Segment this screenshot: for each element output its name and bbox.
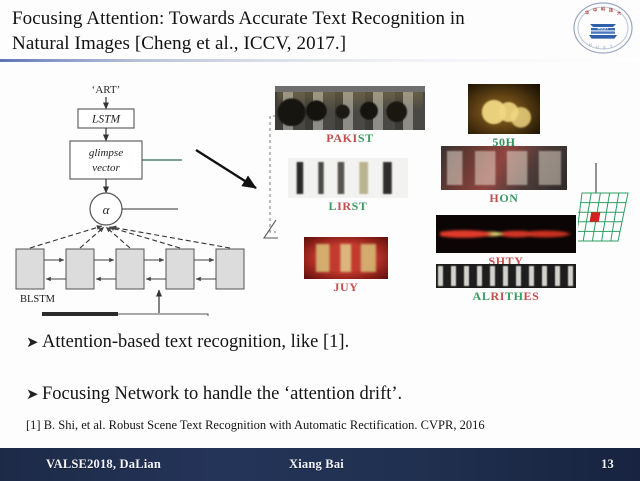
sample-pakist[interactable]: PAKIST [275,86,425,145]
diagram-glimpse-label-2: vector [92,162,120,174]
sample-pakist-caption: PAKIST [275,131,425,145]
footer-page-number: 13 [601,457,614,472]
title-line-1: Focusing Attention: Towards Accurate Tex… [12,6,552,31]
sample-lirst-image [288,158,408,198]
slide-canvas: Focusing Attention: Towards Accurate Tex… [0,0,640,481]
sample-hon-caption: HON [441,191,567,205]
sample-50h[interactable]: 50H [468,84,540,149]
sample-juy[interactable]: JUY [304,237,388,294]
title-line-2: Natural Images [Cheng et al., ICCV, 2017… [12,31,552,56]
attention-map-grid [578,163,636,249]
bullet-text-2: Focusing Network to handle the ‘attentio… [42,382,402,406]
diagram-alpha-label: α [103,202,111,217]
bullet-item-1: ➤ Attention-based text recognition, like… [26,330,349,355]
diagram-glimpse-label-1: glimpse [89,147,123,159]
svg-text:中: 中 [593,6,597,13]
bullet-marker-icon: ➤ [26,331,42,355]
svg-text:U: U [596,45,599,49]
svg-text:H: H [589,43,592,47]
page-title: Focusing Attention: Towards Accurate Tex… [12,6,552,56]
sample-juy-caption: JUY [304,280,388,294]
sample-alrithes[interactable]: ALRITHES [436,264,576,303]
sample-shty[interactable]: SHTY [436,215,576,268]
footer-presenter: Xiang Bai [289,457,344,472]
diagram-lstm-label: LSTM [91,114,122,126]
bullet-item-2: ➤ Focusing Network to handle the ‘attent… [26,382,402,407]
sample-50h-image [468,84,540,134]
diagram-output-label: ‘ART’ [92,84,121,96]
svg-text:HUST: HUST [598,26,609,31]
sample-juy-image [304,237,388,279]
sample-hon-image [441,146,567,190]
reference-citation: [1] B. Shi, et al. Robust Scene Text Rec… [26,418,485,433]
sample-lirst[interactable]: LIRST [288,158,408,213]
slide-footer: VALSE2018, DaLian Xiang Bai 13 [0,448,640,481]
sample-alrithes-caption: ALRITHES [436,289,576,303]
sample-lirst-caption: LIRST [288,199,408,213]
bullet-text-1: Attention-based text recognition, like [… [42,330,349,354]
title-divider [0,59,640,62]
diagram-blstm-label: BLSTM [20,294,56,305]
attention-grid-highlight-cell [590,212,601,222]
sample-shty-image [436,215,576,253]
bullet-marker-icon: ➤ [26,383,42,407]
sample-alrithes-image [436,264,576,288]
footer-event: VALSE2018, DaLian [46,457,161,472]
sample-hon[interactable]: HON [441,146,567,205]
university-seal-logo-icon: 华中科技大 HUST HUST [572,2,634,57]
sample-pakist-image [275,86,425,130]
